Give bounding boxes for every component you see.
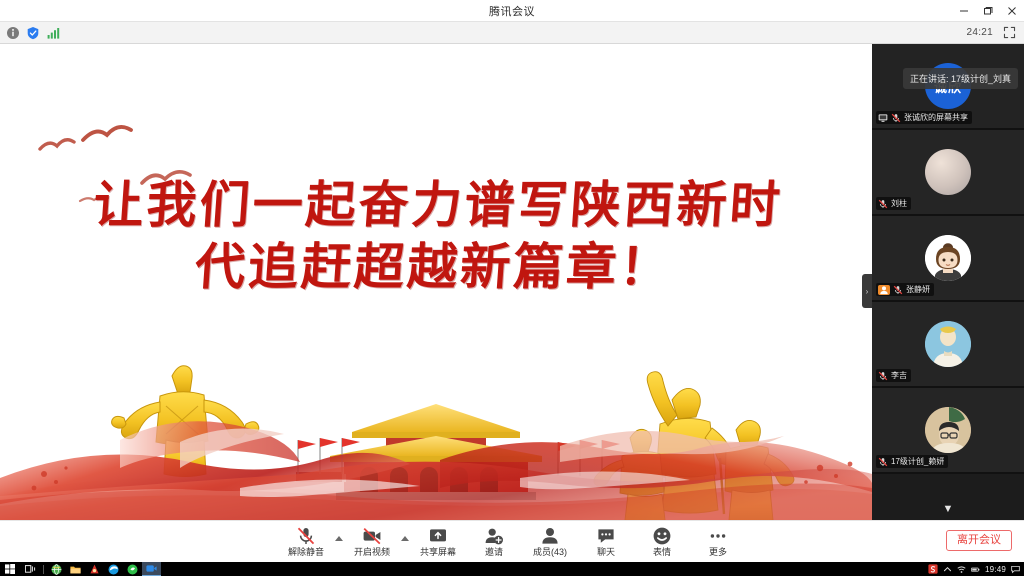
app-red-icon	[89, 564, 100, 575]
minimize-button[interactable]	[952, 0, 976, 22]
avatar-cartoon-icon	[925, 235, 971, 281]
share-screen-icon	[428, 526, 448, 546]
chevron-up-icon	[401, 536, 409, 542]
tray-snipaste-button[interactable]	[928, 564, 938, 574]
host-badge-icon	[879, 285, 889, 295]
window-title-bar: 腾讯会议	[0, 0, 1024, 22]
chat-bubble-icon	[596, 526, 616, 546]
tray-expand-button[interactable]	[943, 565, 952, 574]
toolbar-label: 成员(43)	[533, 548, 567, 557]
participant-tile[interactable]: 17级计创_赖妍	[872, 388, 1024, 474]
taskbar-app-edge-browser[interactable]	[104, 562, 123, 576]
share-badge	[878, 285, 890, 295]
tray-notification-button[interactable]	[1011, 565, 1020, 574]
app-green-icon	[127, 564, 138, 575]
avatar-photo-icon	[925, 407, 971, 453]
taskbar-left	[0, 562, 161, 576]
maximize-icon	[983, 6, 993, 16]
tray-battery-button[interactable]	[971, 565, 980, 574]
notification-icon	[1011, 565, 1020, 574]
taskbar-app-folder-explorer[interactable]	[66, 562, 85, 576]
windows-start-button[interactable]	[0, 562, 20, 576]
snipaste-s-icon	[928, 564, 938, 574]
avatar-photo-icon	[925, 321, 971, 367]
toolbar-invite-button[interactable]: 邀请	[466, 521, 522, 563]
panel-scroll-down-button[interactable]: ▼	[872, 500, 1024, 518]
toolbar-label: 更多	[709, 548, 727, 557]
leave-meeting-button[interactable]: 离开会议	[946, 530, 1012, 551]
avatar	[925, 149, 971, 195]
participant-label: 刘柱	[876, 197, 911, 210]
task-view-icon	[25, 564, 36, 574]
shared-screen-stage[interactable]: 让我们一起奋力谱写陕西新时 代追赶超越新篇章！ ›	[0, 44, 872, 520]
emoji-smile-icon	[652, 526, 672, 546]
speaking-tooltip: 正在讲话: 17级计创_刘真	[903, 68, 1018, 89]
invite-person-icon	[484, 526, 504, 546]
avatar	[925, 235, 971, 281]
meeting-window: 腾讯会议	[0, 0, 1024, 576]
video-off-icon	[362, 526, 382, 546]
chevron-up-icon	[335, 536, 343, 542]
participant-tile[interactable]: 张静妍	[872, 216, 1024, 302]
members-icon	[540, 526, 560, 546]
chevron-right-icon: ›	[866, 287, 869, 296]
window-controls	[952, 0, 1024, 22]
meeting-timer: 24:21	[966, 27, 993, 38]
microphone-muted-icon	[878, 457, 888, 467]
toolbar-emoji-button[interactable]: 表情	[634, 521, 690, 563]
microphone-muted-icon	[878, 199, 888, 209]
microphone-muted-icon	[296, 526, 316, 546]
browser-globe-icon	[51, 564, 62, 575]
info-icon[interactable]	[6, 26, 20, 40]
presentation-slide: 让我们一起奋力谱写陕西新时 代追赶超越新篇章！	[0, 44, 872, 520]
slide-headline: 让我们一起奋力谱写陕西新时 代追赶超越新篇章！	[0, 174, 872, 298]
toolbar-share-screen-button[interactable]: 共享屏幕	[410, 521, 466, 563]
participant-name: 张诚欣的屏幕共享	[904, 112, 968, 123]
participant-label: 17级计创_赖妍	[876, 455, 948, 468]
video-options-caret[interactable]	[400, 521, 410, 563]
toolbar-label: 表情	[653, 548, 671, 557]
window-title: 腾讯会议	[489, 3, 535, 19]
participant-name: 张静妍	[906, 284, 930, 295]
participant-panel: 诚欣 张诚欣的屏幕共享	[872, 44, 1024, 520]
avatar	[925, 321, 971, 367]
toolbar-more-button[interactable]: 更多	[690, 521, 746, 563]
audio-options-caret[interactable]	[334, 521, 344, 563]
close-button[interactable]	[1000, 0, 1024, 22]
chevron-up-icon	[943, 565, 952, 574]
wifi-icon	[957, 565, 966, 574]
toolbar-chat-button[interactable]: 聊天	[578, 521, 634, 563]
toolbar-members-button[interactable]: 成员(43)	[522, 521, 578, 563]
tencent-meeting-icon	[146, 563, 157, 574]
close-icon	[1007, 6, 1017, 16]
participant-label: 张诚欣的屏幕共享	[876, 111, 972, 124]
folder-explorer-icon	[70, 564, 81, 575]
maximize-button[interactable]	[976, 0, 1000, 22]
taskbar-app-browser-globe[interactable]	[47, 562, 66, 576]
participant-name: 李吉	[891, 370, 907, 381]
taskbar-tray: 19:49	[928, 562, 1024, 576]
toolbar-unmute-button[interactable]: 解除静音	[278, 521, 334, 563]
participant-name: 17级计创_赖妍	[891, 456, 944, 467]
toolbar-label: 共享屏幕	[420, 548, 456, 557]
tray-network-button[interactable]	[957, 565, 966, 574]
toolbar-label: 解除静音	[288, 548, 324, 557]
toolbar-label: 开启视频	[354, 548, 390, 557]
meeting-toolbar: 解除静音 开启视频	[0, 520, 1024, 562]
toolbar-label: 聊天	[597, 548, 615, 557]
participant-tile[interactable]: 李吉	[872, 302, 1024, 388]
security-shield-icon[interactable]	[26, 26, 40, 40]
taskbar-app-green[interactable]	[123, 562, 142, 576]
edge-browser-icon	[108, 564, 119, 575]
screen-share-icon	[878, 113, 888, 123]
network-signal-icon[interactable]	[46, 26, 60, 40]
battery-icon	[971, 565, 980, 574]
microphone-muted-icon	[878, 371, 888, 381]
taskbar-divider	[43, 565, 44, 574]
meeting-status-bar: 24:21	[0, 22, 1024, 44]
participant-label: 李吉	[876, 369, 911, 382]
fullscreen-icon[interactable]	[1003, 26, 1016, 39]
toolbar-label: 邀请	[485, 548, 503, 557]
more-dots-icon	[708, 526, 728, 546]
microphone-muted-icon	[891, 113, 901, 123]
taskbar-clock[interactable]: 19:49	[985, 565, 1006, 574]
windows-taskbar: 19:49	[0, 562, 1024, 576]
windows-start-icon	[5, 564, 15, 574]
toolbar-items: 解除静音 开启视频	[278, 521, 746, 563]
minimize-icon	[959, 6, 969, 16]
participant-label: 张静妍	[876, 283, 934, 296]
taskbar-app-tencent-meeting[interactable]	[142, 562, 161, 576]
chevron-down-icon: ▼	[943, 503, 954, 515]
panel-collapse-handle[interactable]: ›	[862, 274, 872, 308]
task-view-button[interactable]	[20, 562, 40, 576]
status-left-icons	[0, 26, 60, 40]
participant-tile[interactable]: 刘柱	[872, 130, 1024, 216]
microphone-muted-icon	[893, 285, 903, 295]
avatar	[925, 407, 971, 453]
participant-name: 刘柱	[891, 198, 907, 209]
status-right-cluster: 24:21	[966, 26, 1024, 39]
toolbar-start-video-button[interactable]: 开启视频	[344, 521, 400, 563]
taskbar-app-red[interactable]	[85, 562, 104, 576]
